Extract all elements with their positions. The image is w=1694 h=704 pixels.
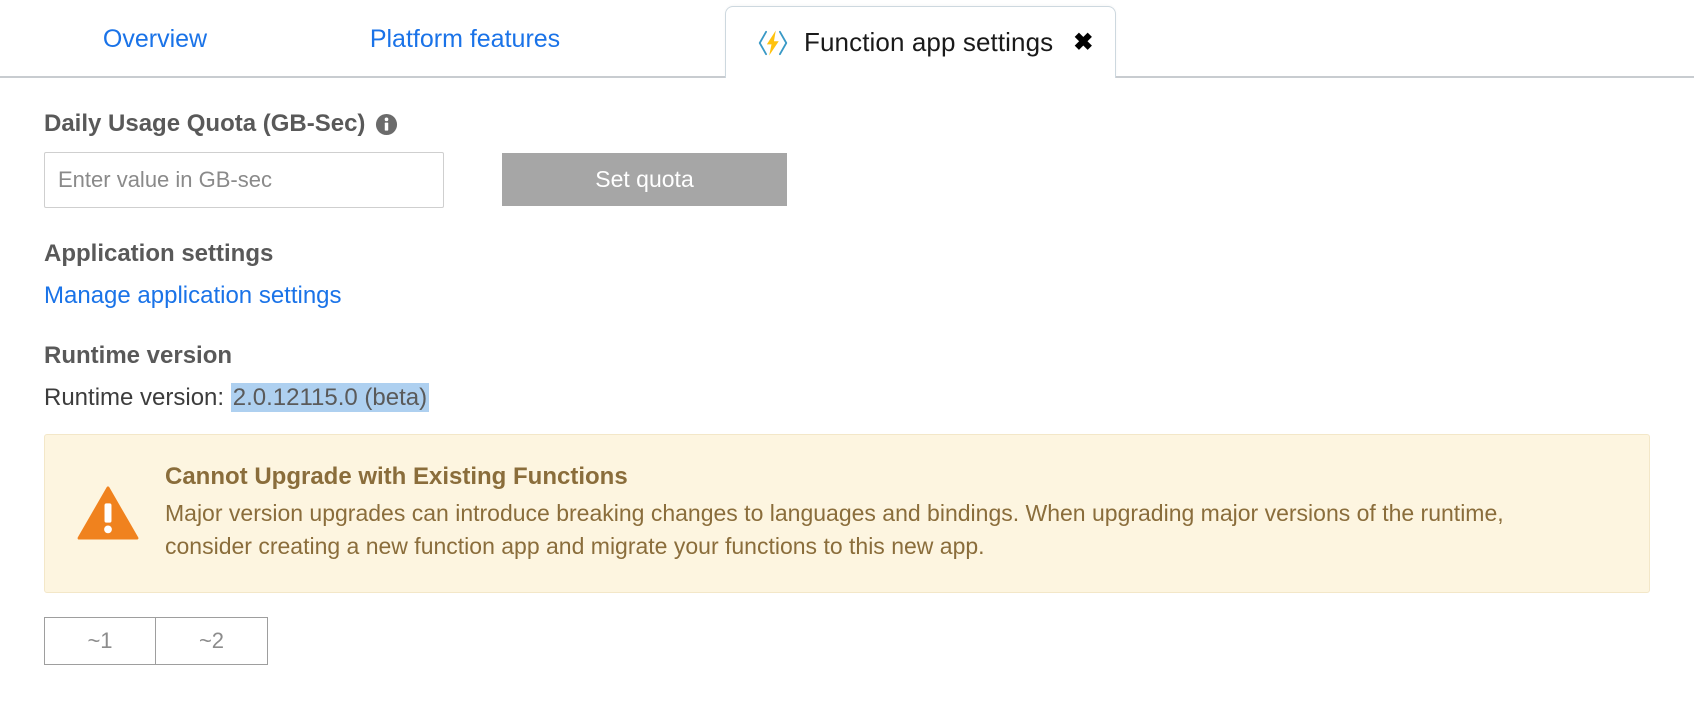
info-icon[interactable]: [375, 113, 398, 136]
runtime-version-selector: ~1 ~2: [44, 617, 1694, 665]
runtime-version-option-1[interactable]: ~1: [44, 617, 156, 665]
tab-platform-features[interactable]: Platform features: [310, 0, 620, 78]
close-icon[interactable]: ✖: [1073, 31, 1093, 55]
runtime-version-option-2[interactable]: ~2: [156, 617, 268, 665]
daily-usage-quota-label: Daily Usage Quota (GB-Sec): [44, 110, 1694, 138]
warning-triangle-icon: [77, 485, 139, 541]
tab-list: Overview Platform features Function app …: [0, 0, 1694, 78]
settings-content: Daily Usage Quota (GB-Sec) Set quota App…: [0, 78, 1694, 665]
upgrade-warning-banner: Cannot Upgrade with Existing Functions M…: [44, 434, 1650, 593]
tab-function-app-settings-label: Function app settings: [804, 27, 1053, 58]
warning-text: Major version upgrades can introduce bre…: [165, 497, 1595, 562]
warning-title: Cannot Upgrade with Existing Functions: [165, 463, 1595, 491]
set-quota-button[interactable]: Set quota: [502, 153, 787, 206]
tab-overview[interactable]: Overview: [0, 0, 310, 78]
tab-function-app-settings[interactable]: Function app settings ✖: [725, 6, 1116, 78]
warning-body: Cannot Upgrade with Existing Functions M…: [165, 461, 1595, 562]
runtime-version-value: 2.0.12115.0 (beta): [231, 383, 429, 412]
runtime-version-prefix: Runtime version:: [44, 384, 224, 411]
quota-input[interactable]: [44, 152, 444, 208]
quota-row: Set quota: [44, 152, 1694, 208]
daily-usage-quota-label-text: Daily Usage Quota (GB-Sec): [44, 110, 365, 138]
manage-application-settings-link[interactable]: Manage application settings: [44, 282, 342, 310]
application-settings-heading: Application settings: [44, 240, 1694, 268]
azure-functions-icon: [756, 26, 790, 60]
tab-strip: Overview Platform features Function app …: [0, 0, 1694, 78]
tab-overview-label: Overview: [103, 25, 207, 54]
runtime-version-heading: Runtime version: [44, 342, 1694, 370]
runtime-version-line: Runtime version: 2.0.12115.0 (beta): [44, 384, 1694, 412]
tab-platform-features-label: Platform features: [370, 25, 560, 54]
